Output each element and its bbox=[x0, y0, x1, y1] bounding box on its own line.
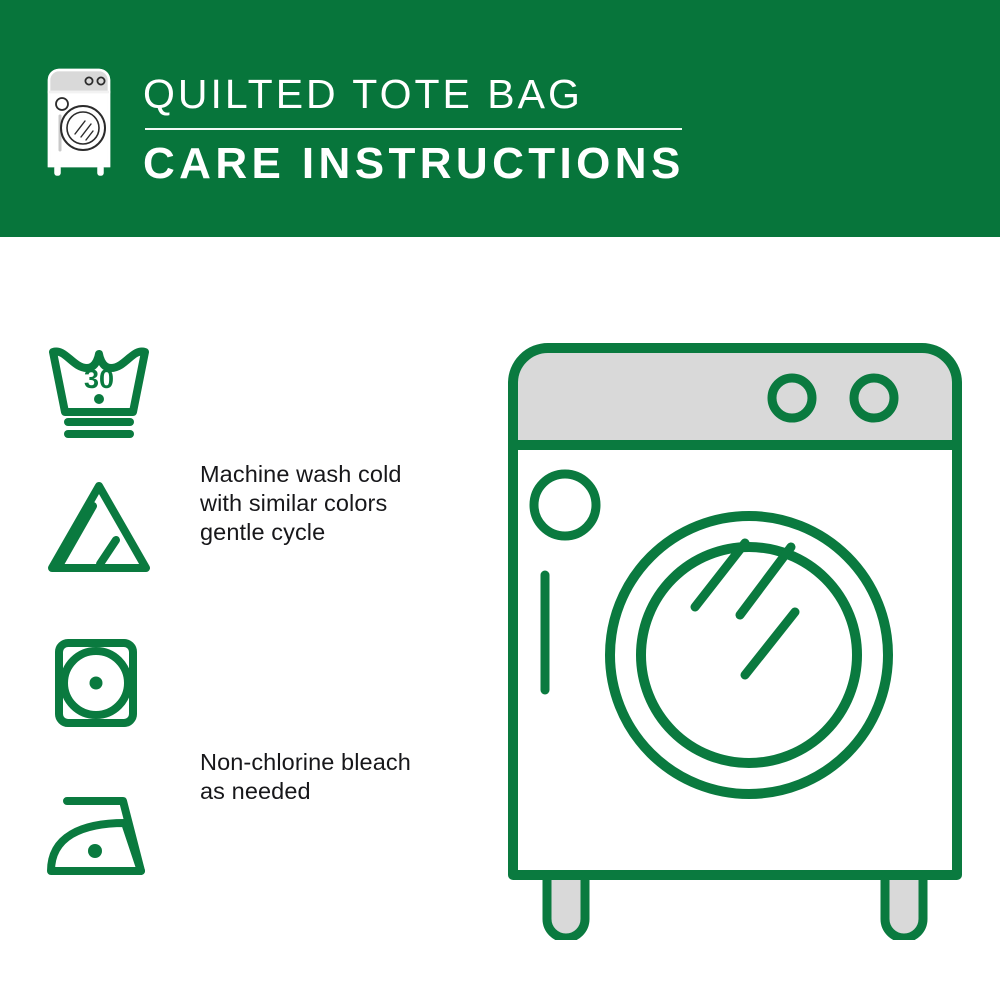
care-label-bleach: Non-chlorine bleach as needed bbox=[200, 748, 411, 806]
wash-temperature-value: 30 bbox=[84, 364, 114, 394]
page-subtitle: CARE INSTRUCTIONS bbox=[143, 139, 763, 189]
page-title: QUILTED TOTE BAG bbox=[143, 70, 763, 118]
title-divider bbox=[145, 128, 682, 130]
wash-basin-30-gentle-icon: 30 bbox=[45, 342, 153, 447]
front-load-washing-machine-illustration bbox=[495, 330, 975, 940]
header-text-block: QUILTED TOTE BAG CARE INSTRUCTIONS bbox=[143, 70, 763, 189]
care-label-machine-wash: Machine wash cold with similar colors ge… bbox=[200, 460, 402, 547]
machine-leg-left bbox=[547, 875, 585, 938]
non-chlorine-bleach-triangle-icon bbox=[45, 480, 153, 580]
machine-leg-right bbox=[885, 875, 923, 938]
care-instructions-infographic: QUILTED TOTE BAG CARE INSTRUCTIONS 30 bbox=[0, 0, 1000, 1000]
header-banner: QUILTED TOTE BAG CARE INSTRUCTIONS bbox=[0, 0, 1000, 237]
care-instruction-list: 30 Machine wash cold with similar colors… bbox=[0, 237, 500, 1000]
iron-low-heat-icon bbox=[45, 793, 155, 883]
tumble-dry-low-heat-icon bbox=[45, 637, 145, 742]
washing-machine-icon bbox=[45, 66, 113, 178]
